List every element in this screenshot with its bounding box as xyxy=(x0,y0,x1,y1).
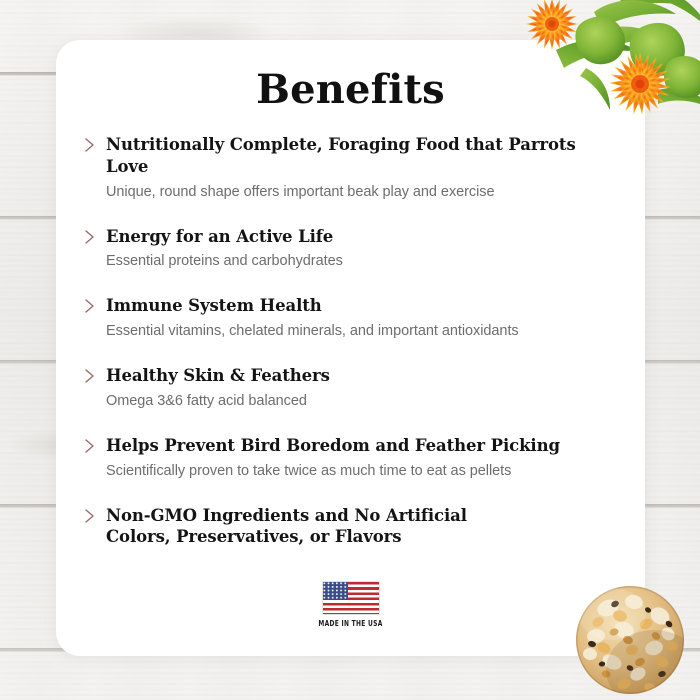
chevron-right-icon xyxy=(84,298,106,314)
flag-canton xyxy=(323,582,348,600)
chevron-right-icon xyxy=(84,137,106,153)
benefit-heading: Immune System Health xyxy=(106,295,611,317)
benefits-list: Nutritionally Complete, Foraging Food th… xyxy=(56,112,645,548)
benefit-heading: Energy for an Active Life xyxy=(106,226,611,248)
benefit-subtext: Omega 3&6 fatty acid balanced xyxy=(106,391,611,412)
page-title: Benefits xyxy=(56,40,645,112)
benefit-subtext: Essential vitamins, chelated minerals, a… xyxy=(106,321,611,342)
benefits-card: Benefits Nutritionally Complete, Foragin… xyxy=(56,40,645,656)
chevron-right-icon xyxy=(84,438,106,454)
benefit-subtext: Scientifically proven to take twice as m… xyxy=(106,461,611,482)
made-in-usa-label: MADE IN THE USA xyxy=(318,619,382,628)
usa-flag-icon xyxy=(322,581,380,615)
benefit-heading: Helps Prevent Bird Boredom and Feather P… xyxy=(106,435,611,457)
list-item: Non-GMO Ingredients and No Artificial Co… xyxy=(84,505,611,549)
list-item: Immune System Health Essential vitamins,… xyxy=(84,295,611,342)
benefit-subtext: Unique, round shape offers important bea… xyxy=(106,182,611,203)
list-item: Energy for an Active Life Essential prot… xyxy=(84,226,611,273)
flag-stars xyxy=(323,582,348,600)
benefit-heading: Non-GMO Ingredients and No Artificial Co… xyxy=(106,505,536,549)
benefit-subtext: Essential proteins and carbohydrates xyxy=(106,251,611,272)
chevron-right-icon xyxy=(84,229,106,245)
benefit-heading: Healthy Skin & Feathers xyxy=(106,365,611,387)
benefit-heading: Nutritionally Complete, Foraging Food th… xyxy=(106,134,611,178)
made-in-usa-badge: MADE IN THE USA xyxy=(56,581,645,628)
list-item: Healthy Skin & Feathers Omega 3&6 fatty … xyxy=(84,365,611,412)
chevron-right-icon xyxy=(84,508,106,524)
chevron-right-icon xyxy=(84,368,106,384)
list-item: Nutritionally Complete, Foraging Food th… xyxy=(84,134,611,203)
list-item: Helps Prevent Bird Boredom and Feather P… xyxy=(84,435,611,482)
product-benefits-infographic: Benefits Nutritionally Complete, Foragin… xyxy=(0,0,700,700)
